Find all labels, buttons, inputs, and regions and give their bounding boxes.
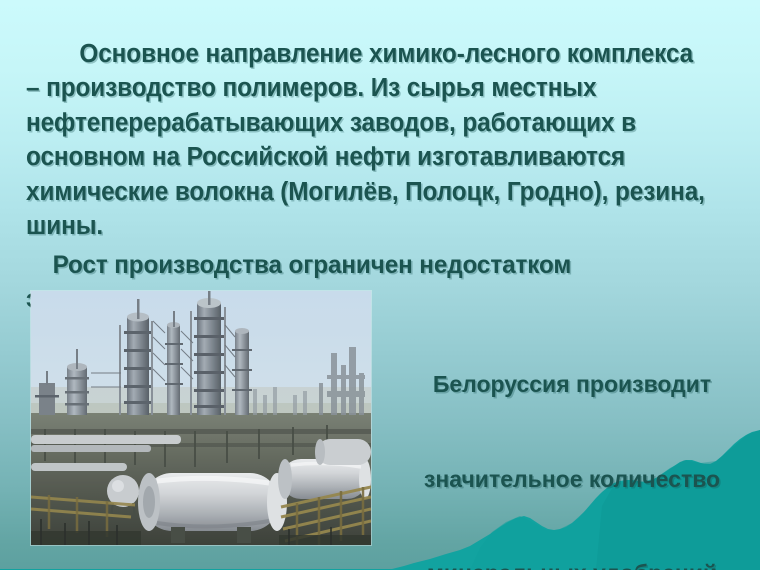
fertilizer-line-1: Белоруссия производит (392, 369, 752, 401)
fertilizer-line-3: минеральных удобрений (392, 558, 752, 570)
fertilizer-paragraph: Белоруссия производит значительное колич… (392, 306, 752, 570)
presentation-slide: Основное направление химико-лесного комп… (0, 0, 760, 570)
fertilizer-line-2: значительное количество (392, 464, 752, 496)
refinery-photo (31, 291, 371, 545)
main-paragraph-text: Основное направление химико-лесного комп… (26, 40, 712, 241)
